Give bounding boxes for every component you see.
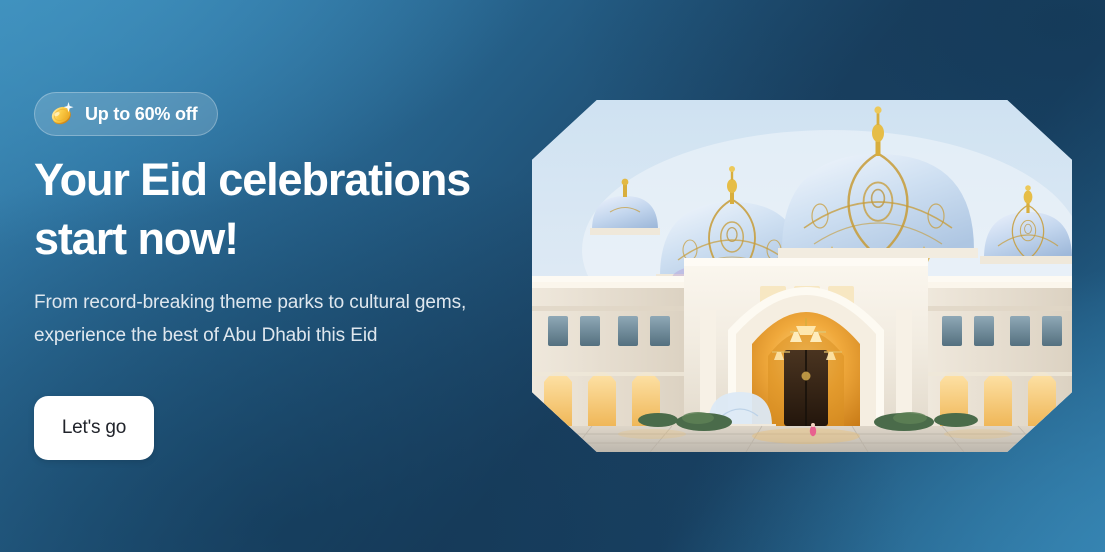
coin-icon (46, 99, 76, 129)
discount-badge-label: Up to 60% off (85, 105, 197, 123)
banner-subtitle: From record-breaking theme parks to cult… (34, 286, 534, 353)
banner-content: Up to 60% off Your Eid celebrations star… (34, 0, 534, 552)
discount-badge: Up to 60% off (34, 92, 218, 136)
hero-image (532, 100, 1072, 452)
page-title: Your Eid celebrations start now! (34, 150, 534, 269)
promo-banner: Up to 60% off Your Eid celebrations star… (0, 0, 1105, 552)
lets-go-button[interactable]: Let's go (34, 396, 154, 460)
